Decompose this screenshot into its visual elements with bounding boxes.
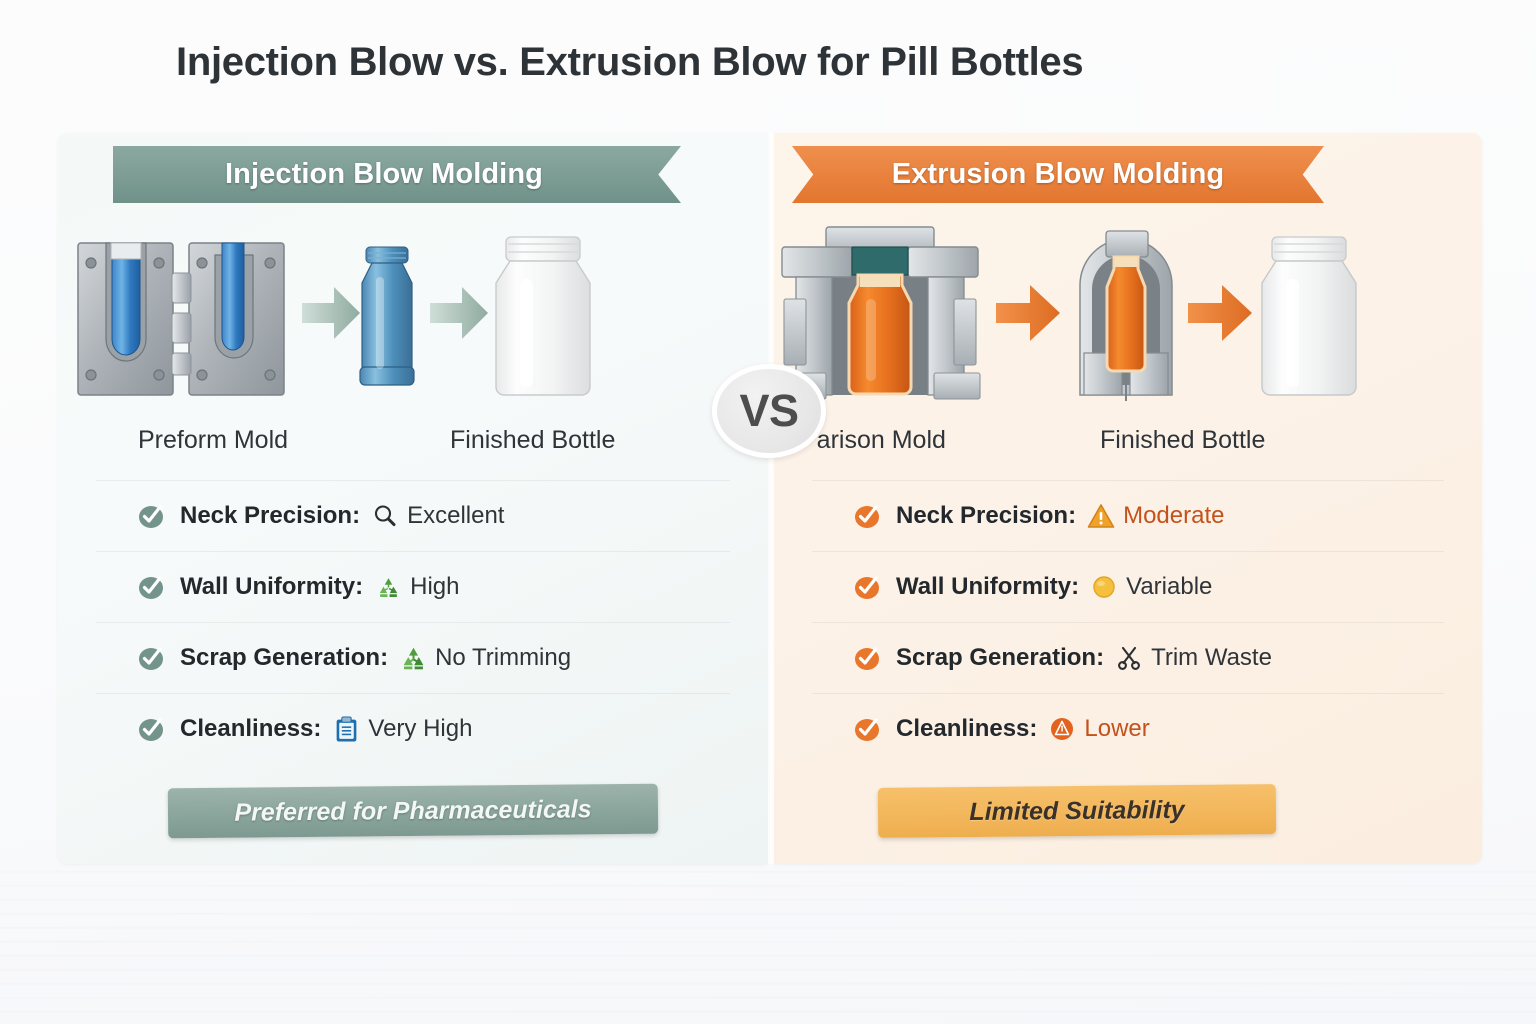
feature-row-cleanliness[interactable]: Cleanliness: Very High <box>96 693 730 764</box>
right-footer-badge[interactable]: Limited Suitability <box>878 784 1276 838</box>
panel-extrusion-blow: Extrusion Blow Molding <box>774 133 1482 864</box>
feature-row-cleanliness[interactable]: Cleanliness: Lower <box>812 693 1444 764</box>
left-banner: Injection Blow Molding <box>113 146 681 203</box>
check-circle-icon <box>138 574 165 601</box>
left-footer-badge[interactable]: Preferred for Pharmaceuticals <box>168 784 658 839</box>
panel-injection-blow: Injection Blow Molding <box>58 133 768 864</box>
comparison-panels: Injection Blow Molding <box>58 133 1482 864</box>
arrow-1 <box>302 287 360 339</box>
left-feature-list: Neck Precision: Excellent Wall Uniformit… <box>96 480 730 764</box>
check-circle-icon <box>854 716 881 743</box>
white-pill-bottle <box>1262 237 1356 395</box>
white-pill-bottle <box>496 237 590 395</box>
left-caption-row: Preform Mold Finished Bottle <box>58 426 768 462</box>
feature-value: High <box>410 573 459 601</box>
right-banner: Extrusion Blow Molding <box>792 146 1324 203</box>
check-circle-icon <box>138 716 165 743</box>
right-caption-mold: Parison Mold <box>800 426 946 455</box>
arrow-2 <box>1188 285 1252 341</box>
feature-row-scrap-generation[interactable]: Scrap Generation: Trim Waste <box>812 622 1444 693</box>
feature-value: Trim Waste <box>1151 644 1272 672</box>
feature-label: Neck Precision: <box>896 502 1076 530</box>
feature-label: Cleanliness: <box>896 715 1037 743</box>
feature-label: Scrap Generation: <box>180 644 388 672</box>
teal-bottle <box>360 247 414 385</box>
feature-row-neck-precision[interactable]: Neck Precision: Excellent <box>96 480 730 551</box>
vs-badge: VS <box>712 364 826 458</box>
parison-mold-press <box>780 227 980 399</box>
feature-label: Wall Uniformity: <box>180 573 363 601</box>
feature-value: Excellent <box>407 502 504 530</box>
feature-value: Moderate <box>1123 502 1224 530</box>
mold-hinge <box>172 273 191 375</box>
arrow-1 <box>996 285 1060 341</box>
right-process-diagram <box>774 225 1482 420</box>
left-process-diagram <box>58 225 768 420</box>
blow-mold <box>1080 231 1172 401</box>
feature-row-scrap-generation[interactable]: Scrap Generation: No Trimming <box>96 622 730 693</box>
feature-value: Lower <box>1084 715 1149 743</box>
check-circle-icon <box>854 574 881 601</box>
feature-row-neck-precision[interactable]: Neck Precision: Moderate <box>812 480 1444 551</box>
scissors-icon <box>1114 643 1144 673</box>
check-circle-icon <box>854 645 881 672</box>
alert-circle-icon <box>1047 714 1077 744</box>
right-illustration <box>774 225 1482 420</box>
feature-value: No Trimming <box>435 644 571 672</box>
right-caption-bottle: Finished Bottle <box>1100 426 1265 455</box>
feature-value: Variable <box>1126 573 1212 601</box>
feature-value: Very High <box>368 715 472 743</box>
left-caption-mold: Preform Mold <box>138 426 288 455</box>
recycle-icon <box>398 643 428 673</box>
paper-texture <box>0 862 1536 1024</box>
left-illustration <box>58 225 768 420</box>
feature-label: Neck Precision: <box>180 502 360 530</box>
left-caption-bottle: Finished Bottle <box>450 426 615 455</box>
recycle-icon <box>373 572 403 602</box>
feature-label: Scrap Generation: <box>896 644 1104 672</box>
preform-mold-half-right <box>189 243 284 395</box>
check-circle-icon <box>138 503 165 530</box>
preform-mold-half-left <box>78 243 173 395</box>
magnifier-icon <box>370 501 400 531</box>
arrow-2 <box>430 287 488 339</box>
right-caption-row: Parison Mold Finished Bottle <box>774 426 1482 462</box>
feature-row-wall-uniformity[interactable]: Wall Uniformity: Variable <box>812 551 1444 622</box>
right-feature-list: Neck Precision: Moderate Wall Uniformity… <box>812 480 1444 764</box>
check-circle-icon <box>138 645 165 672</box>
check-circle-icon <box>854 503 881 530</box>
clipboard-icon <box>331 714 361 744</box>
feature-row-wall-uniformity[interactable]: Wall Uniformity: High <box>96 551 730 622</box>
feature-label: Cleanliness: <box>180 715 321 743</box>
yellow-circle-icon <box>1089 572 1119 602</box>
warning-triangle-icon <box>1086 501 1116 531</box>
page-title: Injection Blow vs. Extrusion Blow for Pi… <box>176 40 1083 85</box>
feature-label: Wall Uniformity: <box>896 573 1079 601</box>
